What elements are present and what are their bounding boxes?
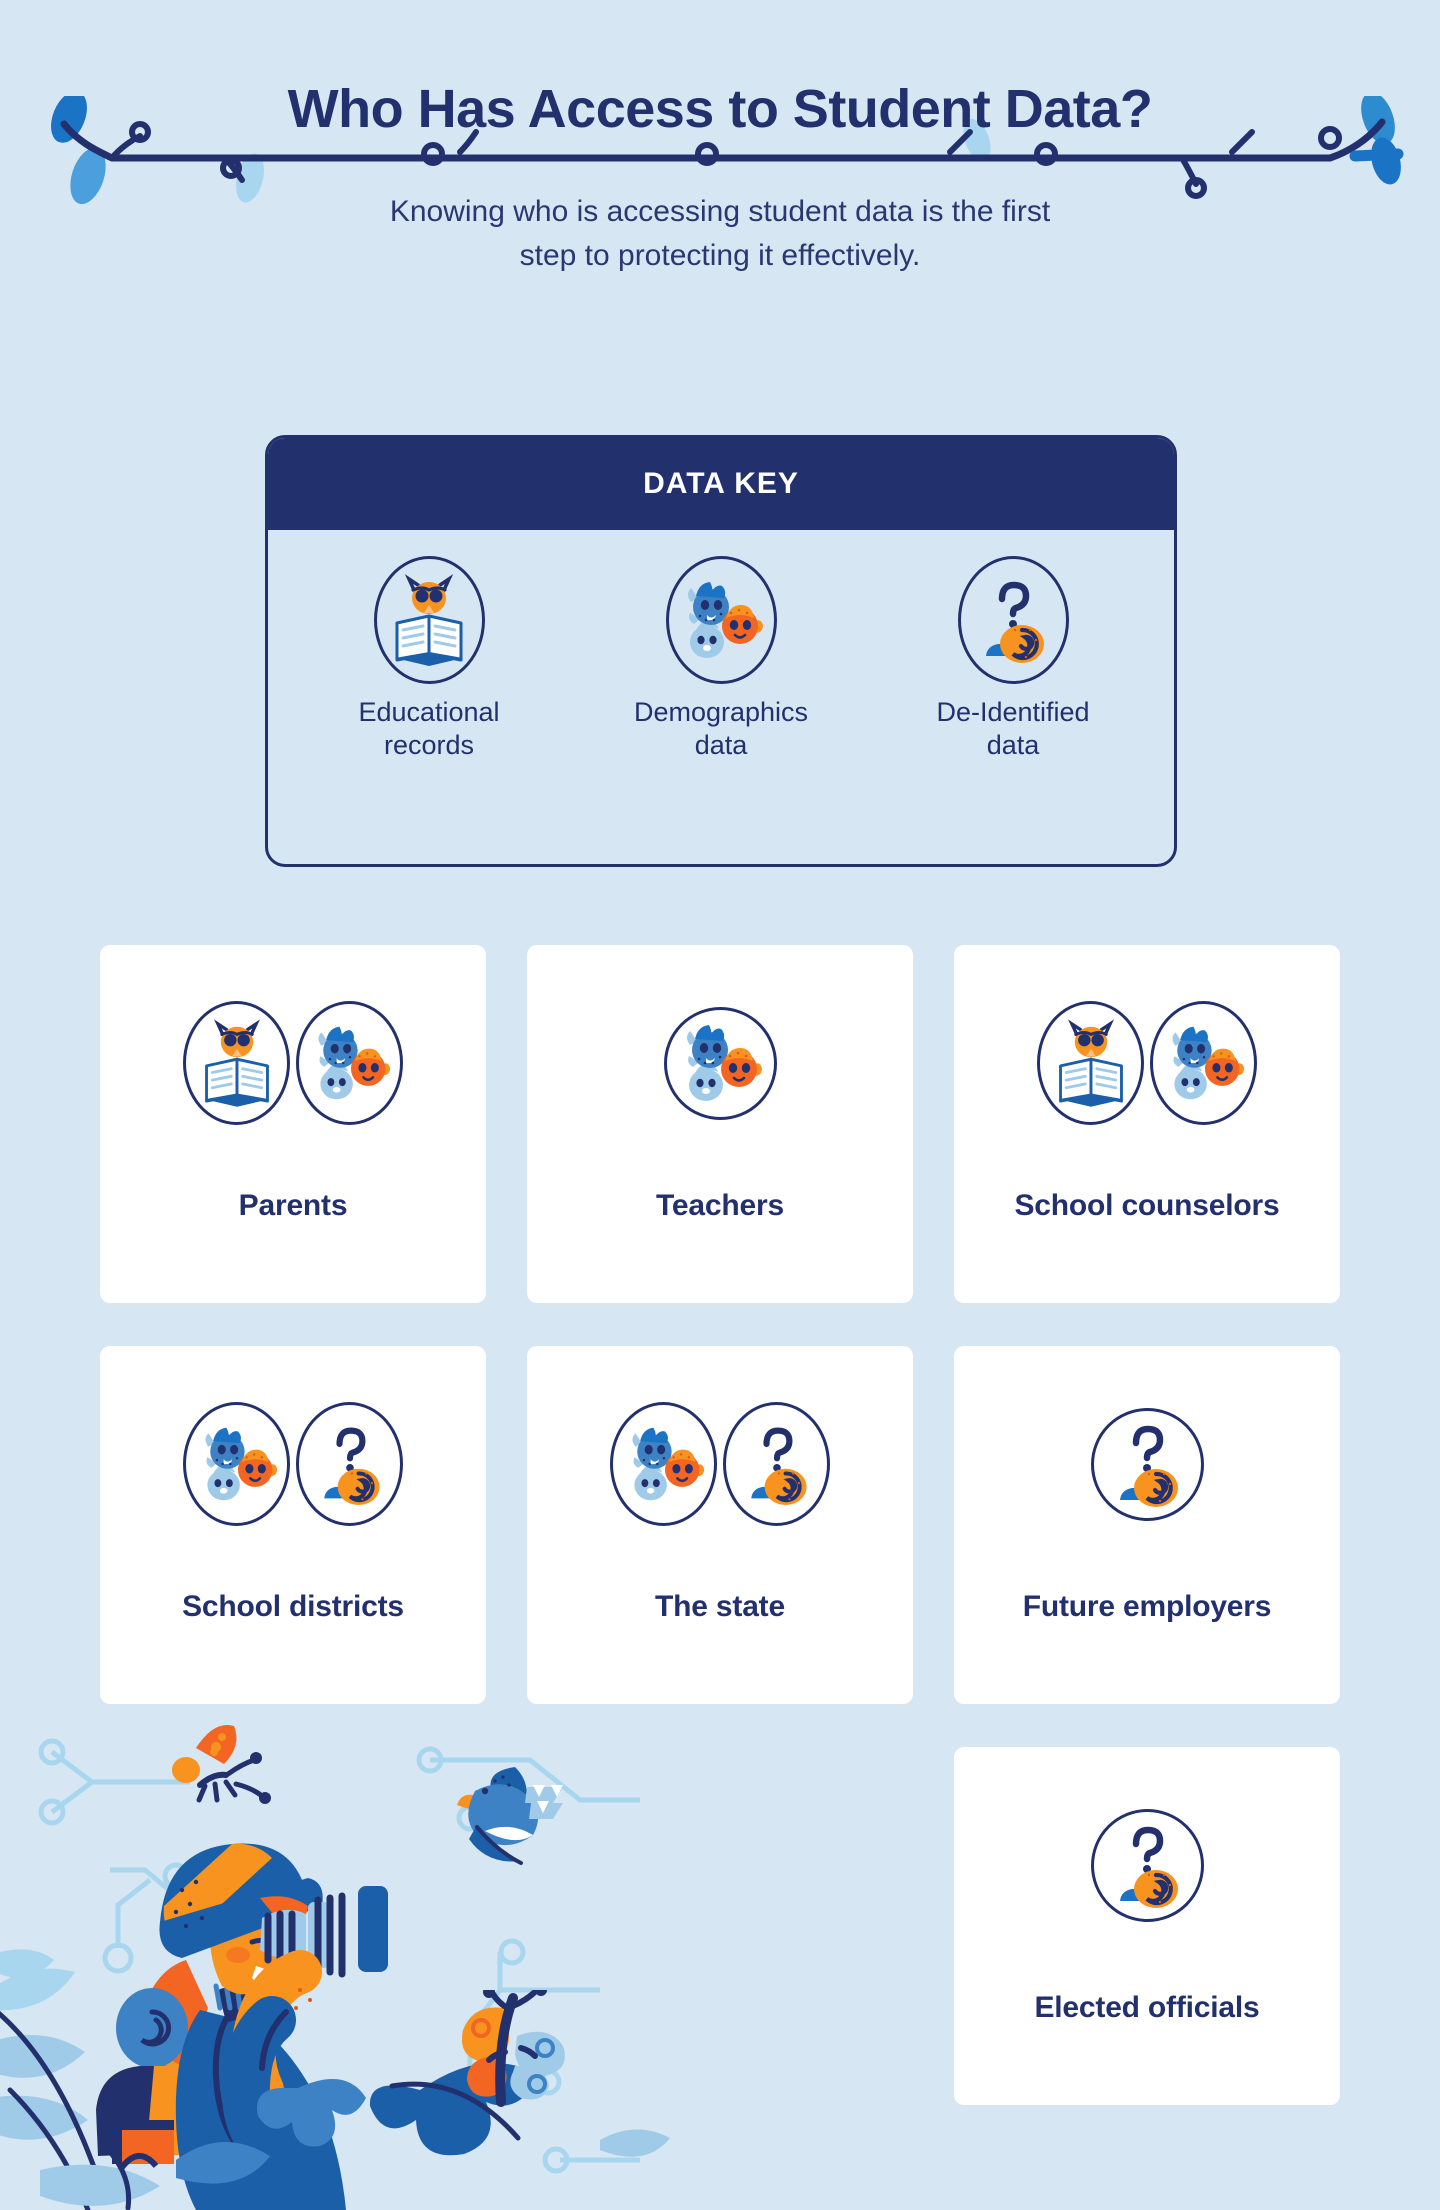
card-school-counselors[interactable]: School counselors [954,945,1340,1303]
page-title: Who Has Access to Student Data? [0,78,1440,140]
butterfly-icon [455,1990,585,2110]
key-label-line-2: data [575,729,867,762]
page-subtitle: Knowing who is accessing student data is… [0,190,1440,277]
leaves-and-fronds [0,1949,95,2210]
key-icon-wrap [867,556,1159,684]
data-key-item-de-identified-data: De-Identified data [867,556,1159,762]
owl-book-icon [374,556,485,684]
card-parents[interactable]: Parents [100,945,486,1303]
subtitle-line-2: step to protecting it effectively. [0,234,1440,278]
card-elected-officials[interactable]: Elected officials [954,1747,1340,2105]
snail-question-icon [723,1402,830,1526]
key-icon-wrap [283,556,575,684]
owl-book-icon [183,1001,290,1125]
data-key-item-demographics-data: Demographics data [575,556,867,762]
card-icons [664,945,777,1181]
card-label: The state [527,1590,913,1624]
card-future-employers[interactable]: Future employers [954,1346,1340,1704]
key-label-line-1: De-Identified [867,696,1159,729]
card-label: School districts [100,1590,486,1624]
access-cards-grid: Parents [100,945,1340,2105]
card-icons [183,945,403,1181]
card-label: Future employers [954,1590,1340,1624]
snail-question-icon [958,556,1069,684]
data-key-items: Educational records [268,530,1174,762]
owl-book-icon [1037,1001,1144,1125]
key-label: De-Identified data [867,696,1159,762]
key-label-line-1: Educational [283,696,575,729]
key-label-line-2: records [283,729,575,762]
card-label: Parents [100,1189,486,1223]
snail-question-icon [1091,1408,1204,1521]
card-label: Elected officials [954,1991,1340,2025]
flying-bird-icon [455,1755,615,1895]
data-key-panel: DATA KEY [265,435,1177,867]
key-label: Demographics data [575,696,867,762]
card-school-districts[interactable]: School districts [100,1346,486,1704]
key-label-line-2: data [867,729,1159,762]
card-icons [183,1346,403,1582]
card-teachers[interactable]: Teachers [527,945,913,1303]
key-icon-wrap [575,556,867,684]
snail-question-icon [1091,1809,1204,1922]
data-key-header: DATA KEY [268,438,1174,530]
grid-spacer-left [100,1747,486,2105]
data-key-item-educational-records: Educational records [283,556,575,762]
card-the-state[interactable]: The state [527,1346,913,1704]
key-label-line-1: Demographics [575,696,867,729]
header: Who Has Access to Student Data? Knowing … [0,0,1440,260]
faces-icon [183,1402,290,1526]
faces-icon [666,556,777,684]
faces-icon [610,1402,717,1526]
card-icons [1037,945,1257,1181]
card-label: Teachers [527,1189,913,1223]
subtitle-line-1: Knowing who is accessing student data is… [0,190,1440,234]
snail-question-icon [296,1402,403,1526]
key-label: Educational records [283,696,575,762]
faces-icon [296,1001,403,1125]
faces-icon [664,1007,777,1120]
card-icons [1091,1747,1204,1983]
card-label: School counselors [954,1189,1340,1223]
card-icons [1091,1346,1204,1582]
faces-icon [1150,1001,1257,1125]
card-icons [610,1346,830,1582]
data-key-title: DATA KEY [643,467,799,501]
